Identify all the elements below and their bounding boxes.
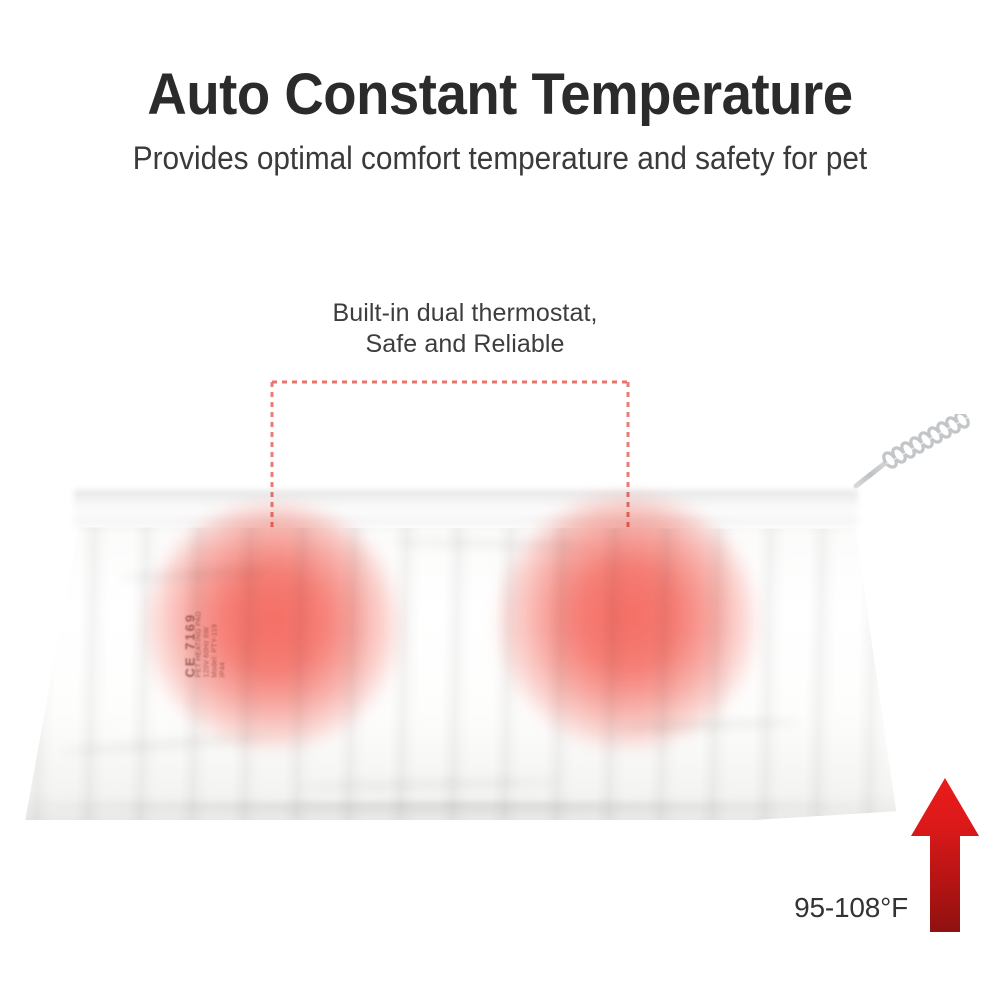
pad-label-line-1: PET HEATING PAD <box>196 562 204 678</box>
thermostat-callout-text: Built-in dual thermostat, Safe and Relia… <box>230 298 700 360</box>
pad-label-cert-marks: CE 7169 <box>185 562 196 678</box>
temperature-range-label: 95-108°F <box>752 892 908 924</box>
infographic-canvas: Auto Constant Temperature Provides optim… <box>0 0 1000 1000</box>
arrow-shape <box>911 778 979 932</box>
page-title: Auto Constant Temperature <box>30 64 970 126</box>
heating-pad: CE 7169 PET HEATING PAD 120V 60Hz 6W Mod… <box>0 420 1000 840</box>
pad-label-line-2: 120V 60Hz 6W <box>204 562 212 678</box>
callout-line-2: Safe and Reliable <box>230 329 700 360</box>
callout-line-1: Built-in dual thermostat, <box>332 299 597 327</box>
pad-top-hem <box>74 490 858 516</box>
pad-drop-shadow <box>10 802 890 818</box>
pad-top-hem-secondary <box>74 516 858 532</box>
pad-label-line-3: Model: PTY-119 <box>212 562 220 678</box>
pad-printed-label: CE 7169 PET HEATING PAD 120V 60Hz 6W Mod… <box>185 562 228 678</box>
pad-label-line-4: IP44 <box>220 562 228 678</box>
right-thermostat-heat-zone <box>500 498 755 746</box>
temperature-up-arrow <box>908 776 982 934</box>
page-subtitle: Provides optimal comfort temperature and… <box>35 139 965 177</box>
